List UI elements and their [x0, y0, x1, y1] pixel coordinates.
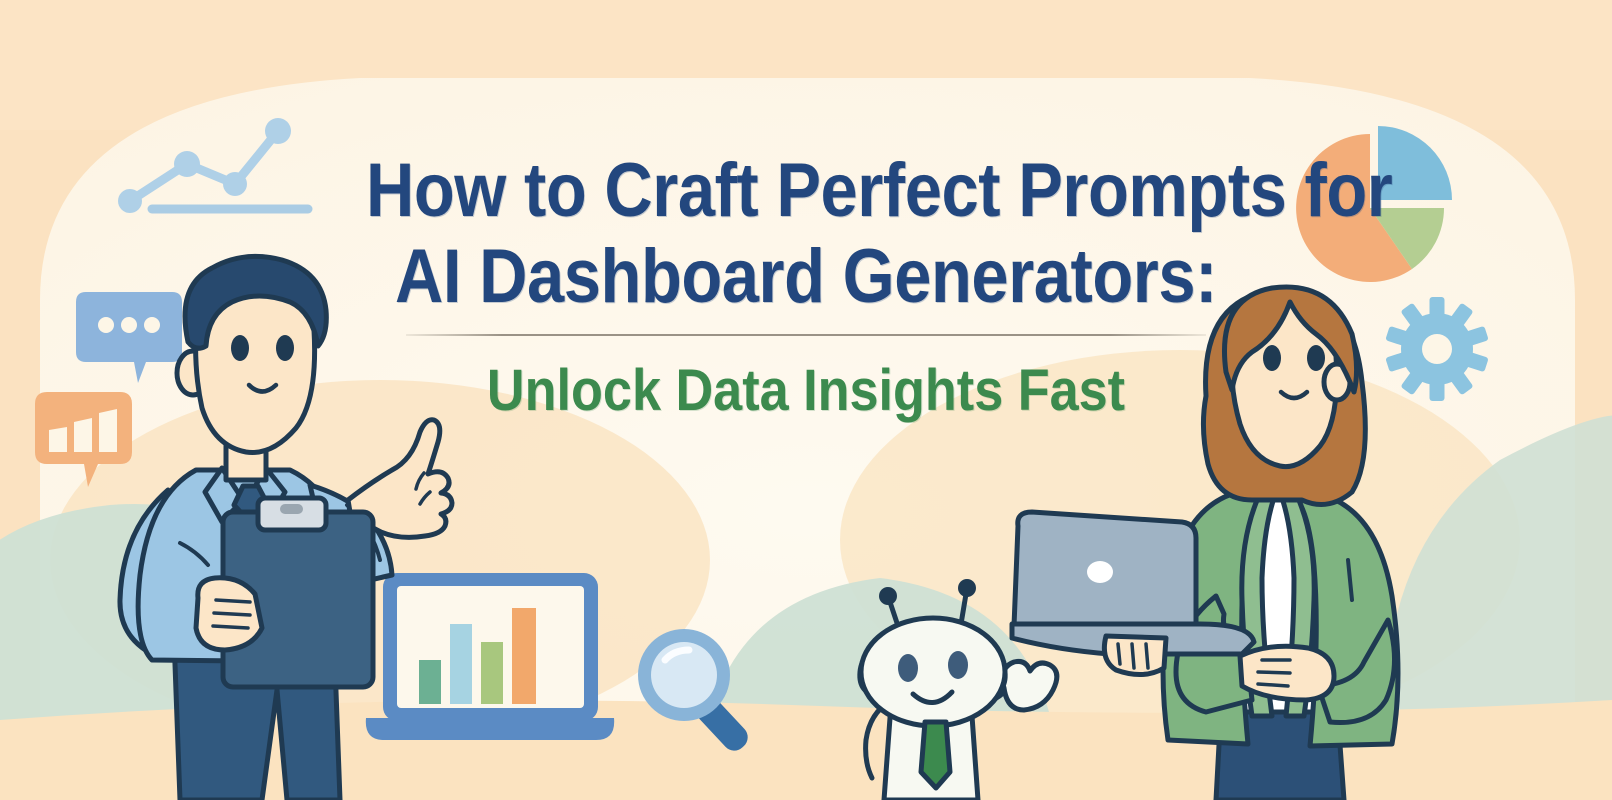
robot-tie [921, 722, 950, 788]
clipboard-clip-knob [280, 504, 303, 514]
finger-line [1258, 684, 1288, 686]
chart-bubble-bar [74, 418, 92, 452]
bar-4 [512, 608, 536, 704]
finger-line [1146, 644, 1148, 668]
finger-line [213, 626, 248, 628]
bar-3 [481, 642, 503, 704]
finger-line [1118, 644, 1120, 664]
chat-dot [121, 317, 137, 333]
robot-antenna-bulb-right [958, 579, 976, 597]
robot-eye-right [948, 651, 968, 679]
chart-bubble-bar [99, 409, 117, 452]
bar-2 [450, 624, 472, 704]
robot-head [861, 618, 1005, 726]
line-chart-point [118, 189, 142, 213]
woman-eye-left [1263, 345, 1281, 371]
gear-center-hole [1422, 334, 1452, 364]
illustration-layer [0, 0, 1612, 800]
finger-line [216, 600, 250, 602]
line-chart-point [174, 151, 200, 177]
finger-line [1132, 644, 1134, 668]
finger-line [214, 613, 250, 615]
man-eye-right [276, 335, 294, 361]
chart-bubble-bar [49, 427, 67, 452]
banner-root: How to Craft Perfect Prompts for AI Dash… [0, 0, 1612, 800]
robot-eye-left [898, 654, 918, 682]
line-chart-point [223, 172, 247, 196]
robot-antenna-bulb-left [879, 587, 897, 605]
man-eye-left [231, 335, 249, 361]
bar-1 [419, 660, 441, 704]
laptop-logo [1087, 561, 1113, 583]
woman-eye-right [1307, 345, 1325, 371]
finger-line [1258, 672, 1290, 673]
laptop-bar-chart [366, 573, 614, 740]
chat-dot [144, 317, 160, 333]
laptop-base [366, 718, 614, 740]
line-chart-point [265, 118, 291, 144]
chat-dot [98, 317, 114, 333]
